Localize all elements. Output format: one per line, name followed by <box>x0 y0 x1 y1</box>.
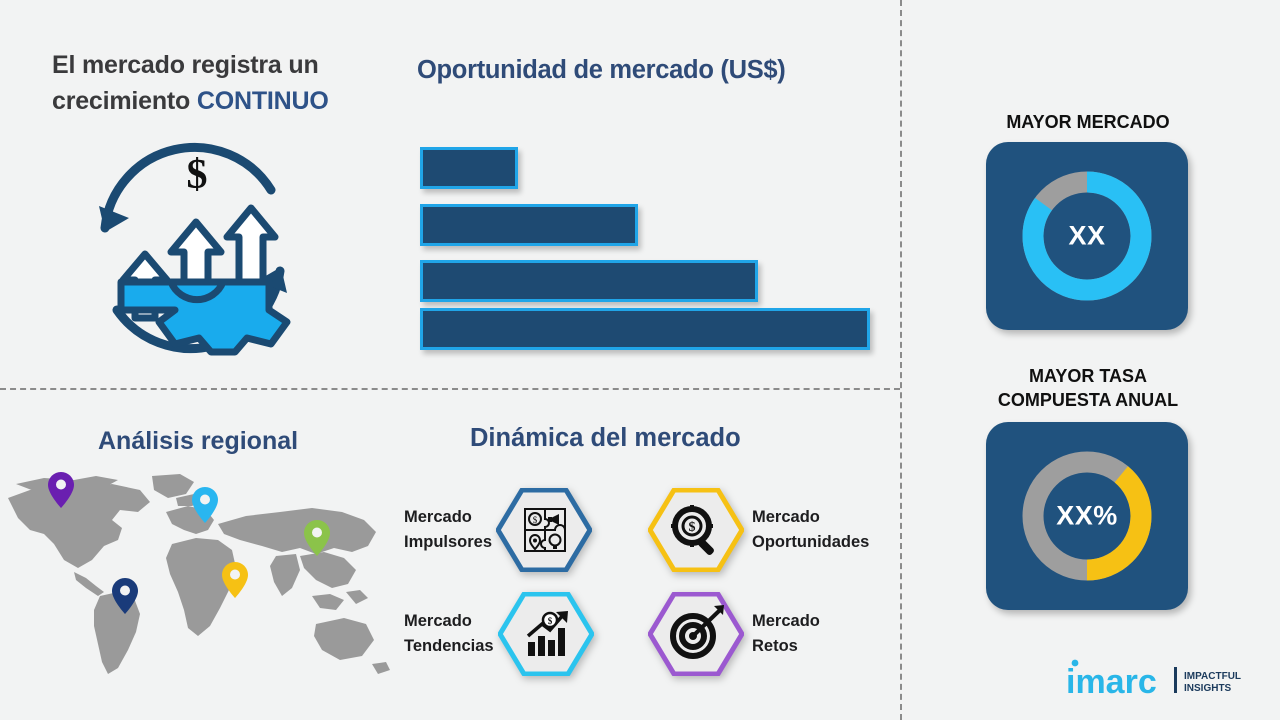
logo-divider-bar <box>1174 667 1177 693</box>
kpi-card-largest-market: XX <box>986 142 1188 330</box>
logo-tagline-line1: IMPACTFUL <box>1184 671 1241 682</box>
dynamics-heading: Dinámica del mercado <box>470 424 870 453</box>
bar-chart-bar <box>420 147 518 189</box>
svg-text:$: $ <box>689 520 696 535</box>
growth-heading-line1: El mercado registra un <box>52 51 319 79</box>
infographic-root: El mercado registra un crecimiento CONTI… <box>0 0 1280 720</box>
pin-europe <box>192 487 218 523</box>
vertical-divider <box>900 0 902 720</box>
pin-asia <box>304 520 330 556</box>
imarc-logo: imarc IMPACTFUL INSIGHTS <box>1062 655 1262 701</box>
growth-heading-line2: crecimiento <box>52 87 197 115</box>
dynamics-item-trends[interactable]: Mercado Tendencias $ <box>404 592 594 676</box>
bar-chart-bar <box>420 260 758 302</box>
bar-chart-bar <box>420 308 870 350</box>
bar-chart-bar <box>420 204 638 246</box>
svg-text:$: $ <box>547 616 552 626</box>
growth-heading: El mercado registra un crecimiento CONTI… <box>52 48 402 119</box>
dynamics-label-drivers: Mercado Impulsores <box>404 505 492 555</box>
hexagon-challenges <box>648 592 744 676</box>
dynamics-item-opportunities[interactable]: $ Mercado Oportunidades <box>648 488 869 572</box>
pin-north-america <box>48 472 74 508</box>
hexagon-trends: $ <box>498 592 594 676</box>
growth-gear-arrows-icon: $ <box>75 132 310 367</box>
dynamics-item-challenges[interactable]: Mercado Retos <box>648 592 820 676</box>
dynamics-label-opportunities: Mercado Oportunidades <box>752 505 869 555</box>
growth-dollar-symbol: $ <box>187 152 208 198</box>
world-map <box>0 468 396 680</box>
dynamics-label-challenges: Mercado Retos <box>752 609 820 659</box>
kpi-title-largest-market: MAYOR MERCADO <box>948 110 1228 134</box>
logo-wordmark: imarc <box>1066 663 1157 701</box>
hexagon-drivers: $ <box>496 488 592 572</box>
kpi-card-highest-cagr: XX% <box>986 422 1188 610</box>
kpi-title-highest-cagr: MAYOR TASA COMPUESTA ANUAL <box>948 364 1228 413</box>
hexagon-opportunities: $ <box>648 488 744 572</box>
opportunity-bar-chart <box>420 147 890 352</box>
dynamics-label-trends: Mercado Tendencias <box>404 609 494 659</box>
growth-heading-accent: CONTINUO <box>197 87 329 115</box>
horizontal-divider <box>0 388 900 390</box>
pin-middle-east <box>222 562 248 598</box>
kpi-value-highest-cagr: XX% <box>986 501 1188 532</box>
dynamics-item-drivers[interactable]: Mercado Impulsores $ <box>404 488 592 572</box>
kpi-value-largest-market: XX <box>986 221 1188 252</box>
pin-south-america <box>112 578 138 614</box>
regional-heading: Análisis regional <box>98 427 398 456</box>
opportunity-heading: Oportunidad de mercado (US$) <box>417 56 887 85</box>
logo-tagline-line2: INSIGHTS <box>1184 683 1232 694</box>
svg-text:$: $ <box>533 515 538 525</box>
